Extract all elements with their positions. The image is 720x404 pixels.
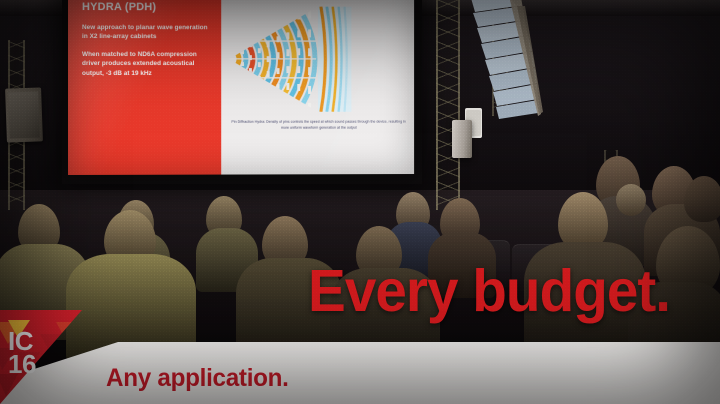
stage-speaker-box-right <box>452 120 472 158</box>
slide-title: HYDRA (PDH) <box>82 2 210 14</box>
stage-truss-tower-right <box>436 0 460 210</box>
ic16-logo: IC 16 <box>0 292 100 404</box>
headline-every-budget: Every budget. <box>308 262 670 321</box>
slide-paragraph-2: When matched to ND6A compression driver … <box>82 50 210 78</box>
screenshot-root: HYDRA (PDH) New approach to planar wave … <box>0 0 720 404</box>
acoustic-wavefront-diagram <box>227 0 373 117</box>
presentation-slide: HYDRA (PDH) New approach to planar wave … <box>68 0 414 175</box>
banner-text-any-application: Any application. <box>106 366 289 391</box>
audience-head <box>684 176 720 222</box>
slide-paragraph-1: New approach to planar wave generation i… <box>82 23 210 42</box>
ic16-logo-text: IC 16 <box>8 330 36 376</box>
slide-caption: Pin Diffraction Hydra: Density of pins c… <box>229 120 408 131</box>
slide-content-panel: Pin Diffraction Hydra: Density of pins c… <box>221 0 414 175</box>
slide-red-panel: HYDRA (PDH) New approach to planar wave … <box>68 0 221 175</box>
stage-monitor-speaker-left <box>5 87 43 142</box>
projection-screen: HYDRA (PDH) New approach to planar wave … <box>68 0 414 175</box>
ic16-logo-line-2: 16 <box>8 353 36 376</box>
audience-head <box>616 184 646 216</box>
hanging-line-array-speaker <box>465 0 555 142</box>
